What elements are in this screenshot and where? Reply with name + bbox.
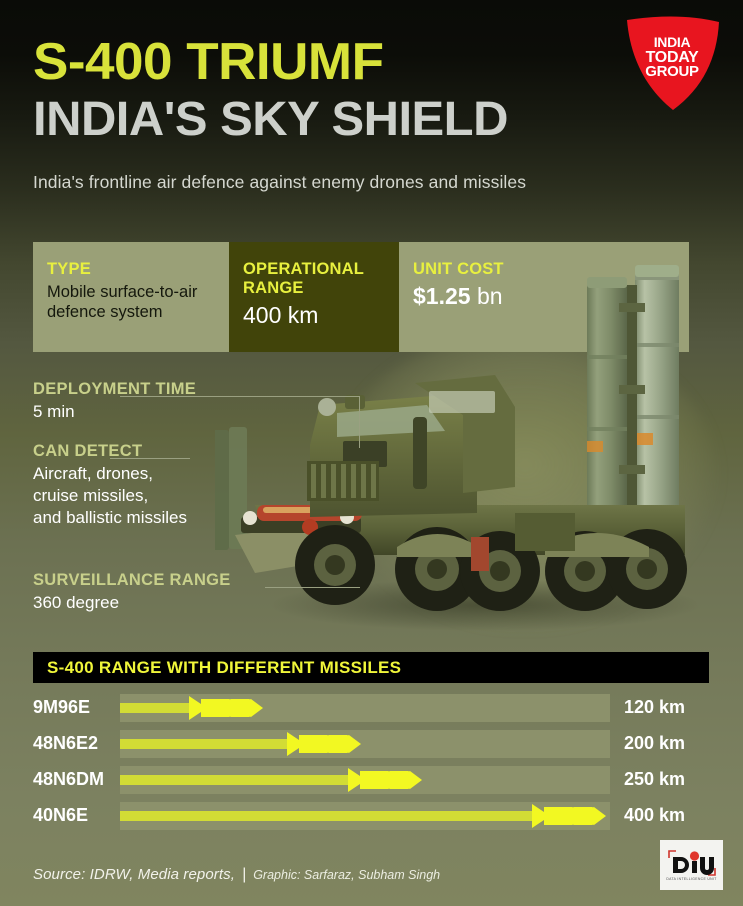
missile-icon <box>287 731 365 757</box>
bar-track <box>120 766 610 794</box>
bar-value-label: 120 km <box>624 697 685 718</box>
bar-category-label: 9M96E <box>33 697 120 718</box>
missile-icon <box>189 695 267 721</box>
footer-divider: | <box>242 866 246 884</box>
chart-bar-row: 9M96E120 km <box>33 692 709 723</box>
feature-label: DEPLOYMENT TIME <box>33 380 196 399</box>
chart-title-banner: S-400 RANGE WITH DIFFERENT MISSILES <box>33 652 709 683</box>
diu-mark <box>668 850 716 876</box>
bar-track <box>120 802 610 830</box>
chart-bar-row: 40N6E400 km <box>33 800 709 831</box>
source-text: Source: IDRW, Media reports, <box>33 866 235 883</box>
s400-launcher-illustration <box>215 255 725 640</box>
india-today-group-logo: INDIA TODAY GROUP <box>621 14 723 112</box>
feature-value: 5 min <box>33 401 196 423</box>
missile-icon <box>532 803 610 829</box>
logo-line-1: INDIA <box>621 36 723 50</box>
credit-text: Graphic: Sarfaraz, Subham Singh <box>253 868 440 882</box>
truck-wheels <box>295 525 687 611</box>
chart-bar-row: 48N6DM250 km <box>33 764 709 795</box>
bar-category-label: 48N6E2 <box>33 733 120 754</box>
bar-value-label: 400 km <box>624 805 685 826</box>
diu-tagline: DATA INTELLIGENCE UNIT <box>666 877 716 881</box>
bar-fill <box>120 811 542 821</box>
missile-icon <box>348 767 426 793</box>
bar-category-label: 48N6DM <box>33 769 120 790</box>
bar-category-label: 40N6E <box>33 805 120 826</box>
feature-surveillance-range: SURVEILLANCE RANGE 360 degree <box>33 571 231 614</box>
spec-value: Mobile surface-to-air defence system <box>47 282 215 322</box>
bar-fill <box>120 739 297 749</box>
chart-bar-row: 48N6E2200 km <box>33 728 709 759</box>
diu-wordmark-icon <box>668 850 716 876</box>
feature-deployment-time: DEPLOYMENT TIME 5 min <box>33 380 196 423</box>
feature-label: CAN DETECT <box>33 442 187 461</box>
infographic-canvas: S-400 TRIUMF INDIA'S SKY SHIELD India's … <box>0 0 743 906</box>
chart-bar-rows: 9M96E120 km48N6E2200 km48N6DM250 km40N6E… <box>33 692 709 831</box>
spec-label: TYPE <box>47 260 215 279</box>
footer: Source: IDRW, Media reports, | Graphic: … <box>33 866 440 884</box>
logo-text: INDIA TODAY GROUP <box>621 36 723 80</box>
logo-line-3: GROUP <box>621 65 723 80</box>
bar-value-label: 250 km <box>624 769 685 790</box>
standfirst-text: India's frontline air defence against en… <box>33 172 526 193</box>
bar-value-label: 200 km <box>624 733 685 754</box>
bar-fill <box>120 775 358 785</box>
spec-card-type: TYPE Mobile surface-to-air defence syste… <box>33 242 229 352</box>
feature-can-detect: CAN DETECT Aircraft, drones, cruise miss… <box>33 442 187 528</box>
range-chart: S-400 RANGE WITH DIFFERENT MISSILES 9M96… <box>33 652 709 836</box>
leader-line-deployment-vertical <box>359 396 360 448</box>
feature-value: Aircraft, drones, cruise missiles, and b… <box>33 463 187 528</box>
leader-line-surveillance <box>265 587 360 588</box>
bar-track <box>120 694 610 722</box>
missile-canisters <box>587 265 679 521</box>
page-title: S-400 TRIUMF <box>33 36 383 88</box>
feature-label: SURVEILLANCE RANGE <box>33 571 231 590</box>
bar-track <box>120 730 610 758</box>
military-truck-icon <box>215 255 725 640</box>
bar-fill <box>120 703 199 713</box>
page-subtitle: INDIA'S SKY SHIELD <box>33 96 508 144</box>
feature-value: 360 degree <box>33 592 231 614</box>
diu-logo: DATA INTELLIGENCE UNIT <box>660 840 723 890</box>
chart-title: S-400 RANGE WITH DIFFERENT MISSILES <box>47 658 401 678</box>
